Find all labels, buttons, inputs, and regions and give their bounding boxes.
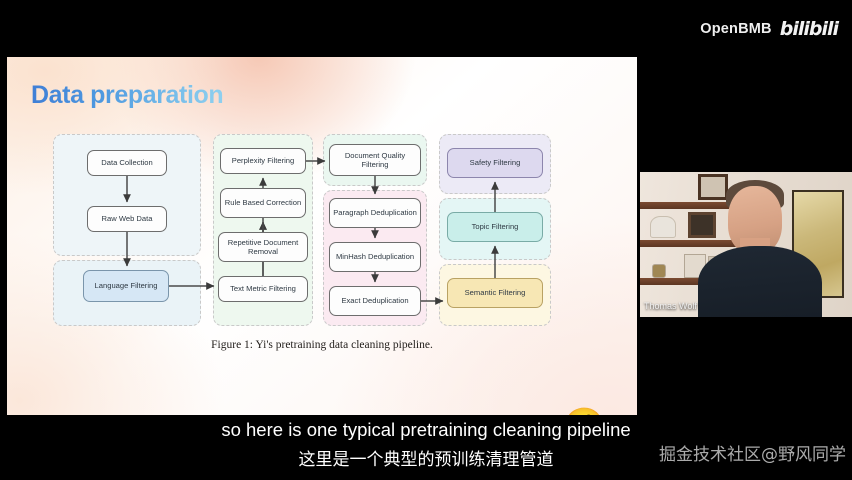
brand-openbmb-label: OpenBMB: [700, 21, 771, 37]
hugging-face-emoji-icon: 🤗: [563, 409, 605, 415]
node-rule-based-correction[interactable]: Rule Based Correction: [220, 188, 306, 218]
node-exact-deduplication[interactable]: Exact Deduplication: [329, 286, 421, 316]
video-player-screen: OpenBMB bilibili Data preparation: [0, 0, 852, 480]
figure-caption: Figure 1: Yi's pretraining data cleaning…: [7, 339, 637, 351]
node-perplexity-filtering[interactable]: Perplexity Filtering: [220, 148, 306, 174]
node-paragraph-deduplication[interactable]: Paragraph Deduplication: [329, 198, 421, 228]
decorative-vase: [650, 216, 676, 238]
picture-frame-middle: [688, 212, 716, 238]
subtitle-english: so here is one typical pretraining clean…: [0, 419, 852, 441]
brand-bilibili-logo: bilibili: [780, 18, 838, 40]
node-semantic-filtering[interactable]: Semantic Filtering: [447, 278, 543, 308]
picture-frame-top: [698, 174, 728, 200]
small-ornament: [652, 264, 666, 278]
node-minhash-deduplication[interactable]: MinHash Deduplication: [329, 242, 421, 272]
channel-brand: OpenBMB bilibili: [700, 18, 838, 40]
node-topic-filtering[interactable]: Topic Filtering: [447, 212, 543, 242]
node-data-collection[interactable]: Data Collection: [87, 150, 167, 176]
pipeline-diagram: Data Collection Raw Web Data Language Fi…: [53, 134, 553, 329]
speaker-name-label: Thomas Wolf: [644, 301, 697, 311]
presentation-slide: Data preparation: [7, 57, 637, 415]
speaker-webcam-panel[interactable]: Thomas Wolf: [640, 172, 852, 317]
node-text-metric-filtering[interactable]: Text Metric Filtering: [218, 276, 308, 302]
node-document-quality-filtering[interactable]: Document Quality Filtering: [329, 144, 421, 176]
speaker-torso: [698, 246, 822, 317]
slide-title: Data preparation: [31, 81, 223, 110]
node-safety-filtering[interactable]: Safety Filtering: [447, 148, 543, 178]
node-language-filtering[interactable]: Language Filtering: [83, 270, 169, 302]
node-repetitive-document-removal[interactable]: Repetitive Document Removal: [218, 232, 308, 262]
watermark-text: 掘金技术社区@野风同学: [659, 440, 846, 465]
node-raw-web-data[interactable]: Raw Web Data: [87, 206, 167, 232]
